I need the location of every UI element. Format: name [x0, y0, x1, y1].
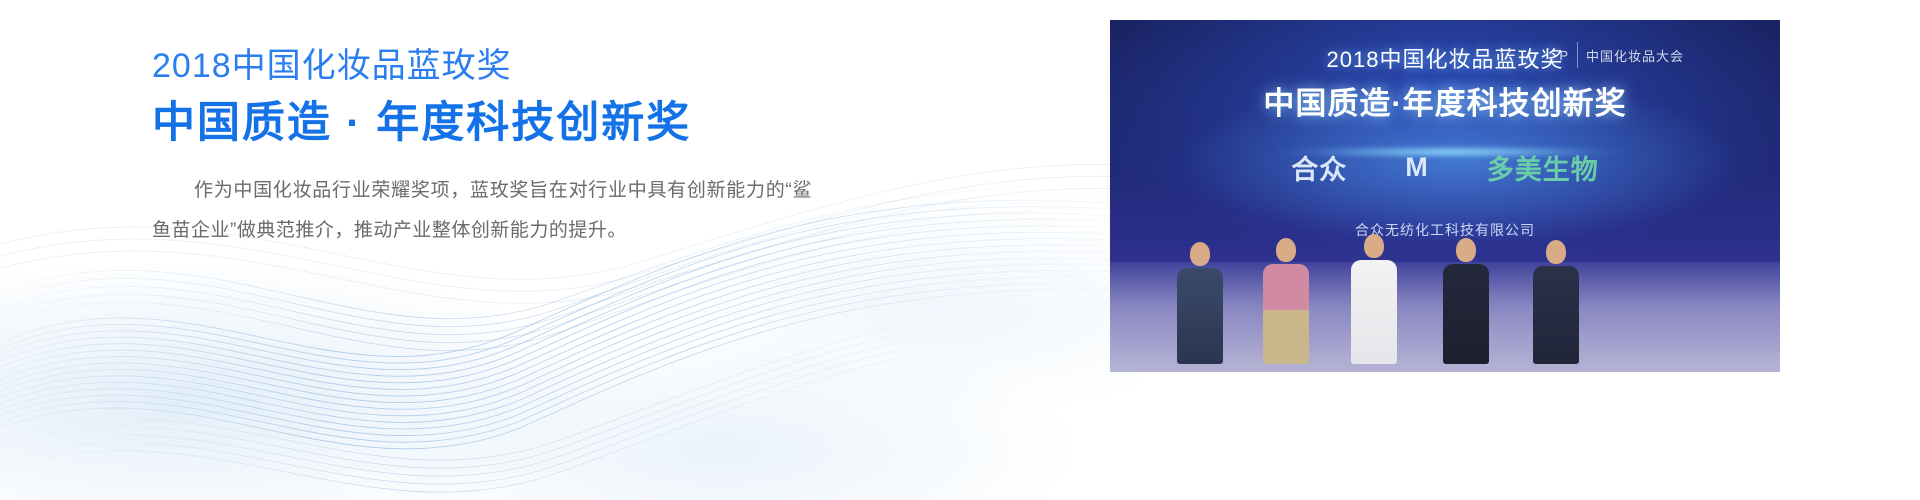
person-5-body — [1533, 266, 1579, 364]
person-4 — [1440, 238, 1492, 364]
mark-letter: P — [1559, 48, 1569, 63]
award-description: 作为中国化妆品行业荣耀奖项，蓝玫奖旨在对行业中具有创新能力的“鲨鱼苗企业”做典范… — [152, 171, 812, 251]
person-2-body — [1263, 264, 1309, 364]
award-eyebrow: 2018中国化妆品蓝玫奖 — [152, 46, 852, 86]
person-3-body — [1351, 260, 1397, 364]
person-4-body — [1443, 264, 1489, 364]
mark-divider — [1577, 42, 1578, 68]
page-title: 中国质造 · 年度科技创新奖 — [152, 98, 852, 149]
award-ceremony-photo: 2018中国化妆品蓝玫奖 中国质造·年度科技创新奖 P 中国化妆品大会 合众 M… — [1110, 20, 1780, 372]
person-5 — [1530, 240, 1582, 364]
banner-root: 2018中国化妆品蓝玫奖 中国质造 · 年度科技创新奖 作为中国化妆品行业荣耀奖… — [0, 0, 1920, 500]
person-1-head — [1190, 242, 1210, 266]
person-1 — [1174, 242, 1226, 364]
person-1-body — [1177, 268, 1223, 364]
person-3 — [1348, 234, 1400, 364]
stage-banner-line2: 中国质造·年度科技创新奖 — [1110, 78, 1780, 123]
mark-subtitle: 中国化妆品大会 — [1586, 46, 1684, 65]
person-5-head — [1546, 240, 1566, 264]
person-2-head — [1276, 238, 1296, 262]
person-4-head — [1456, 238, 1476, 262]
person-2 — [1260, 238, 1312, 364]
text-column: 2018中国化妆品蓝玫奖 中国质造 · 年度科技创新奖 作为中国化妆品行业荣耀奖… — [152, 46, 852, 251]
award-recipients-group — [1110, 142, 1780, 372]
person-3-head — [1364, 234, 1384, 258]
stage-logo-mark: P 中国化妆品大会 — [1559, 42, 1684, 68]
photo-credit: · — [1769, 358, 1772, 368]
